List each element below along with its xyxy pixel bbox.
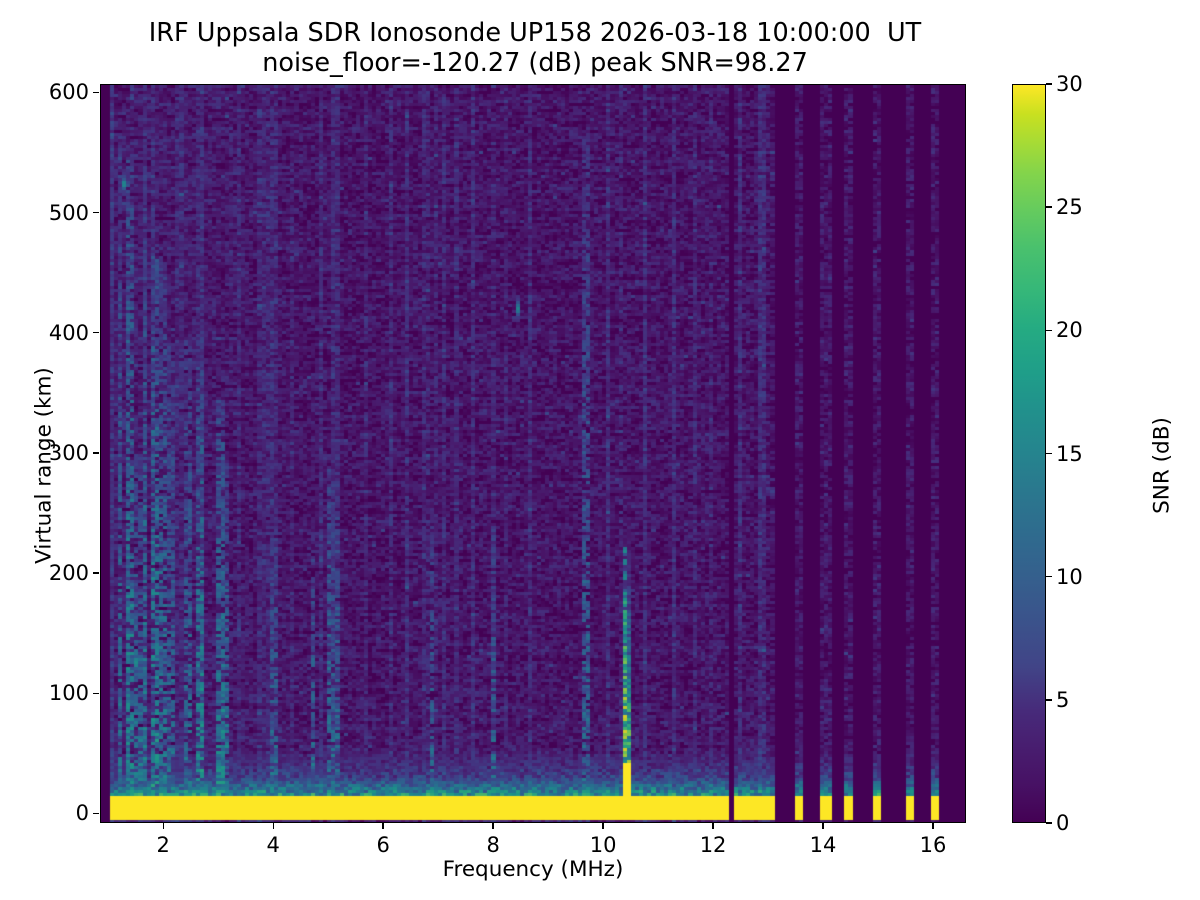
y-tick-label: 500 [49, 201, 89, 225]
x-tick-mark [712, 823, 713, 829]
x-tick-label: 12 [700, 833, 727, 857]
colorbar-tick-label: 30 [1056, 72, 1083, 96]
colorbar [1012, 84, 1046, 823]
colorbar-label: SNR (dB) [1150, 296, 1175, 636]
x-tick-mark [382, 823, 383, 829]
colorbar-tick-mark [1046, 206, 1052, 207]
colorbar-tick-mark [1046, 453, 1052, 454]
title-line-2: noise_floor=-120.27 (dB) peak SNR=98.27 [0, 48, 1070, 78]
y-tick-mark [93, 572, 99, 573]
y-tick-mark [93, 332, 99, 333]
y-tick-mark [93, 693, 99, 694]
x-tick-label: 16 [920, 833, 947, 857]
y-tick-mark [93, 212, 99, 213]
colorbar-tick-mark [1046, 699, 1052, 700]
y-tick-label: 600 [49, 80, 89, 104]
x-tick-label: 6 [376, 833, 389, 857]
figure-title: IRF Uppsala SDR Ionosonde UP158 2026-03-… [0, 18, 1070, 78]
y-tick-mark [93, 452, 99, 453]
y-tick-label: 100 [49, 681, 89, 705]
x-tick-mark [822, 823, 823, 829]
y-tick-label: 0 [76, 801, 89, 825]
colorbar-tick-label: 20 [1056, 318, 1083, 342]
x-tick-mark [932, 823, 933, 829]
x-tick-mark [492, 823, 493, 829]
y-tick-mark [93, 813, 99, 814]
colorbar-tick-label: 5 [1056, 688, 1069, 712]
ionogram-plot-area [100, 84, 966, 823]
y-tick-mark [93, 92, 99, 93]
colorbar-tick-mark [1046, 576, 1052, 577]
colorbar-tick-mark [1046, 822, 1052, 823]
ionogram-heatmap-canvas [101, 85, 966, 823]
colorbar-tick-label: 0 [1056, 811, 1069, 835]
x-tick-mark [602, 823, 603, 829]
x-axis-label: Frequency (MHz) [100, 857, 966, 882]
y-axis-label: Virtual range (km) [32, 296, 57, 636]
colorbar-tick-label: 25 [1056, 195, 1083, 219]
colorbar-tick-label: 15 [1056, 442, 1083, 466]
x-tick-label: 4 [267, 833, 280, 857]
x-tick-label: 14 [810, 833, 837, 857]
colorbar-tick-label: 10 [1056, 565, 1083, 589]
x-tick-label: 2 [157, 833, 170, 857]
colorbar-tick-mark [1046, 83, 1052, 84]
x-tick-label: 8 [486, 833, 499, 857]
colorbar-gradient [1012, 84, 1046, 823]
x-tick-label: 10 [590, 833, 617, 857]
colorbar-tick-mark [1046, 330, 1052, 331]
x-tick-mark [163, 823, 164, 829]
ionogram-figure: IRF Uppsala SDR Ionosonde UP158 2026-03-… [0, 0, 1200, 900]
title-line-1: IRF Uppsala SDR Ionosonde UP158 2026-03-… [0, 18, 1070, 48]
x-tick-mark [273, 823, 274, 829]
